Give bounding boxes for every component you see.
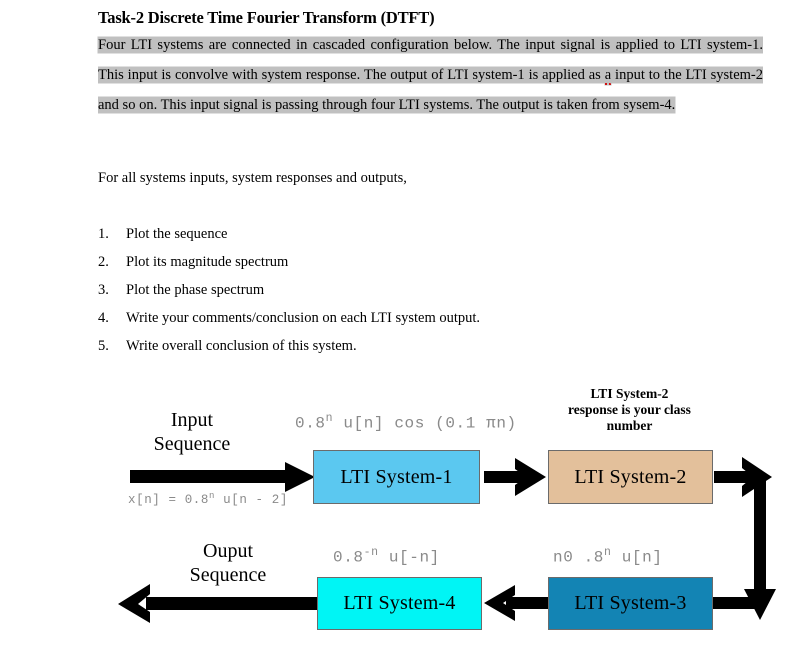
page-title: Task-2 Discrete Time Fourier Transform (… xyxy=(98,8,763,28)
lead-line: For all systems inputs, system responses… xyxy=(98,168,407,188)
lti-system-2-block[interactable]: LTI System-2 xyxy=(548,450,713,504)
document-body: Task-2 Discrete Time Fourier Transform (… xyxy=(98,8,763,120)
list-item-number: 5. xyxy=(98,332,126,360)
list-item-label: Plot the sequence xyxy=(126,226,227,242)
arrow-system3-to-system4-icon xyxy=(484,585,550,621)
lti-system-1-block[interactable]: LTI System-1 xyxy=(313,450,480,504)
input-arrow-icon xyxy=(130,462,315,492)
task-description-paragraph: Four LTI systems are connected in cascad… xyxy=(98,30,763,120)
arrow-system1-to-system2-icon xyxy=(484,458,546,496)
list-item-label: Plot the phase spectrum xyxy=(126,282,264,298)
lti-system-4-block[interactable]: LTI System-4 xyxy=(317,577,482,630)
system1-response-formula: 0.8n u[n] cos (0.1 πn) xyxy=(295,412,517,432)
input-signal-formula: x[n] = 0.8n u[n - 2] xyxy=(128,491,288,507)
system4-response-formula: 0.8-n u[-n] xyxy=(333,546,440,566)
lti-system-3-block[interactable]: LTI System-3 xyxy=(548,577,713,630)
list-item: 1.Plot the sequence xyxy=(98,220,480,248)
task-list: 1.Plot the sequence 2.Plot its magnitude… xyxy=(98,220,480,360)
list-item-label: Write your comments/conclusion on each L… xyxy=(126,310,480,326)
output-sequence-label: OuputSequence xyxy=(158,539,298,587)
list-item: 5.Write overall conclusion of this syste… xyxy=(98,332,480,360)
list-item-label: Plot its magnitude spectrum xyxy=(126,254,288,270)
list-item: 4.Write your comments/conclusion on each… xyxy=(98,304,480,332)
system3-response-formula: n0 .8n u[n] xyxy=(553,546,663,566)
list-item-number: 2. xyxy=(98,248,126,276)
list-item-number: 4. xyxy=(98,304,126,332)
list-item: 2.Plot its magnitude spectrum xyxy=(98,248,480,276)
list-item: 3.Plot the phase spectrum xyxy=(98,276,480,304)
output-arrow-icon xyxy=(118,584,318,623)
list-item-number: 3. xyxy=(98,276,126,304)
input-sequence-label: InputSequence xyxy=(122,408,262,456)
list-item-label: Write overall conclusion of this system. xyxy=(126,338,357,354)
list-item-number: 1. xyxy=(98,220,126,248)
cascaded-lti-block-diagram: LTI System-1 LTI System-2 LTI System-3 L… xyxy=(0,378,798,649)
system2-note-label: LTI System-2response is your classnumber xyxy=(552,386,707,434)
